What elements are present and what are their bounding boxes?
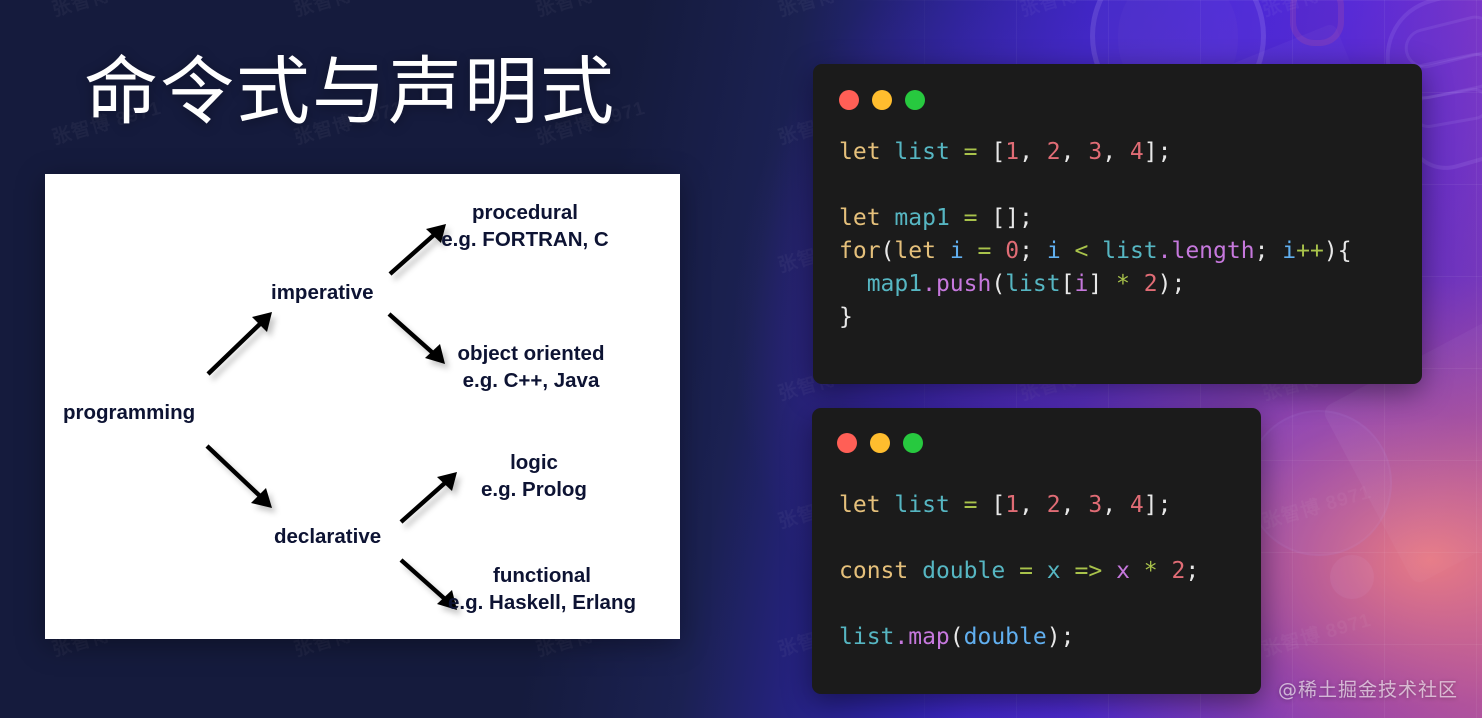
code-token — [1130, 271, 1144, 297]
code-window-imperative: let list = [1, 2, 3, 4]; let map1 = []; … — [813, 64, 1422, 384]
close-icon[interactable] — [837, 433, 857, 453]
code-token: 2 — [1047, 139, 1061, 165]
code-token: 4 — [1130, 139, 1144, 165]
code-token — [839, 271, 867, 297]
code-token — [1088, 238, 1102, 264]
code-token — [950, 205, 964, 231]
code-token: x — [1047, 558, 1061, 584]
code-token: .push — [922, 271, 991, 297]
code-token: 1 — [1005, 492, 1019, 518]
code-token: for — [839, 238, 881, 264]
diagram-leaf-procedural-name: procedural — [472, 201, 578, 224]
code-token: i — [950, 238, 964, 264]
code-token: 3 — [1088, 492, 1102, 518]
code-token: , — [1061, 139, 1089, 165]
code-token: < — [1075, 238, 1089, 264]
code-token: = — [978, 238, 992, 264]
code-token — [1102, 558, 1116, 584]
code-token: map1 — [867, 271, 922, 297]
code-token: , — [1061, 492, 1089, 518]
code-token: let — [839, 139, 881, 165]
close-icon[interactable] — [839, 90, 859, 110]
code-token: 2 — [1144, 271, 1158, 297]
diagram-leaf-functional-name: functional — [493, 564, 591, 587]
arrow-imperative-to-object-oriented — [389, 314, 445, 364]
code-token: 2 — [1172, 558, 1186, 584]
code-token — [908, 558, 922, 584]
diagram-leaf-functional-example: e.g. Haskell, Erlang — [448, 591, 636, 614]
minimize-icon[interactable] — [870, 433, 890, 453]
code-token: ( — [881, 238, 895, 264]
code-token: ]; — [1144, 139, 1172, 165]
code-token: ] — [1088, 271, 1116, 297]
code-token — [950, 492, 964, 518]
arrow-programming-to-declarative — [207, 446, 272, 508]
code-token: [ — [978, 492, 1006, 518]
code-token: ( — [950, 624, 964, 650]
code-token: double — [964, 624, 1047, 650]
code-token — [1061, 558, 1075, 584]
code-token: , — [1102, 492, 1130, 518]
code-token: .map — [894, 624, 949, 650]
code-token: * — [1144, 558, 1158, 584]
code-token: list — [839, 624, 894, 650]
code-token: 0 — [1005, 238, 1019, 264]
maximize-icon[interactable] — [903, 433, 923, 453]
code-token: [ — [978, 139, 1006, 165]
code-token — [1130, 558, 1144, 584]
code-token: .length — [1158, 238, 1255, 264]
code-content-declarative[interactable]: let list = [1, 2, 3, 4]; const double = … — [812, 453, 1261, 654]
code-token: = — [964, 205, 978, 231]
code-token — [950, 139, 964, 165]
code-token: ; — [1019, 238, 1047, 264]
code-token: ); — [1047, 624, 1075, 650]
code-token: ( — [991, 271, 1005, 297]
code-token: 2 — [1047, 492, 1061, 518]
minimize-icon[interactable] — [872, 90, 892, 110]
code-token — [1061, 238, 1075, 264]
code-token: , — [1102, 139, 1130, 165]
code-token — [964, 238, 978, 264]
arrow-imperative-to-procedural — [390, 224, 446, 274]
footer-watermark: @稀土掘金技术社区 — [1278, 675, 1458, 702]
diagram-leaf-procedural-example: e.g. FORTRAN, C — [441, 228, 609, 251]
diagram-leaf-object-oriented-name: object oriented — [458, 342, 605, 365]
code-token: = — [1019, 558, 1033, 584]
code-content-imperative[interactable]: let list = [1, 2, 3, 4]; let map1 = []; … — [813, 110, 1422, 334]
code-token — [881, 139, 895, 165]
code-token: list — [894, 139, 949, 165]
code-token: list — [894, 492, 949, 518]
maximize-icon[interactable] — [905, 90, 925, 110]
diagram-leaf-logic-example: e.g. Prolog — [481, 478, 587, 501]
code-token — [1033, 558, 1047, 584]
code-token: x — [1116, 558, 1130, 584]
code-window-declarative: let list = [1, 2, 3, 4]; const double = … — [812, 408, 1261, 694]
code-token: ){ — [1324, 238, 1352, 264]
code-token: ); — [1158, 271, 1186, 297]
code-token: ++ — [1296, 238, 1324, 264]
code-token — [881, 492, 895, 518]
code-token: let — [894, 238, 936, 264]
code-token: , — [1019, 139, 1047, 165]
code-token — [936, 238, 950, 264]
code-token: i — [1282, 238, 1296, 264]
code-token: 1 — [1005, 139, 1019, 165]
code-token: let — [839, 205, 881, 231]
code-token: } — [839, 304, 853, 330]
code-token — [881, 205, 895, 231]
code-token: double — [922, 558, 1005, 584]
code-token: [ — [1061, 271, 1075, 297]
code-token: ]; — [1144, 492, 1172, 518]
programming-paradigm-diagram-card: programming imperative declarative proce… — [45, 174, 680, 639]
code-token: , — [1019, 492, 1047, 518]
code-token — [1005, 558, 1019, 584]
diagram-node-programming: programming — [63, 401, 195, 424]
window-titlebar — [812, 408, 1261, 453]
code-token: let — [839, 492, 881, 518]
code-token: 4 — [1130, 492, 1144, 518]
code-token: i — [1047, 238, 1061, 264]
code-token: * — [1116, 271, 1130, 297]
code-token: list — [1005, 271, 1060, 297]
window-titlebar — [813, 64, 1422, 110]
decorative-sphere-icon — [1246, 410, 1392, 556]
arrow-programming-to-imperative — [208, 312, 272, 374]
code-token: = — [964, 492, 978, 518]
code-token: i — [1074, 271, 1088, 297]
arrow-declarative-to-logic — [401, 472, 457, 522]
code-token — [991, 238, 1005, 264]
code-token: const — [839, 558, 908, 584]
code-token: list — [1102, 238, 1157, 264]
code-token: ; — [1185, 558, 1199, 584]
page-title: 命令式与声明式 — [84, 52, 616, 133]
diagram-node-imperative: imperative — [271, 281, 374, 304]
code-token: map1 — [894, 205, 949, 231]
decorative-dot-icon — [1330, 555, 1374, 599]
code-token: => — [1075, 558, 1103, 584]
diagram-node-declarative: declarative — [274, 525, 381, 548]
decorative-badge-icon — [1290, 0, 1344, 46]
code-token: = — [964, 139, 978, 165]
code-token: 3 — [1088, 139, 1102, 165]
code-token: []; — [978, 205, 1033, 231]
paradigm-tree-diagram: programming imperative declarative proce… — [45, 174, 680, 639]
diagram-leaf-object-oriented-example: e.g. C++, Java — [463, 369, 600, 392]
code-token: ; — [1255, 238, 1283, 264]
code-token — [1158, 558, 1172, 584]
diagram-leaf-logic-name: logic — [510, 451, 558, 474]
